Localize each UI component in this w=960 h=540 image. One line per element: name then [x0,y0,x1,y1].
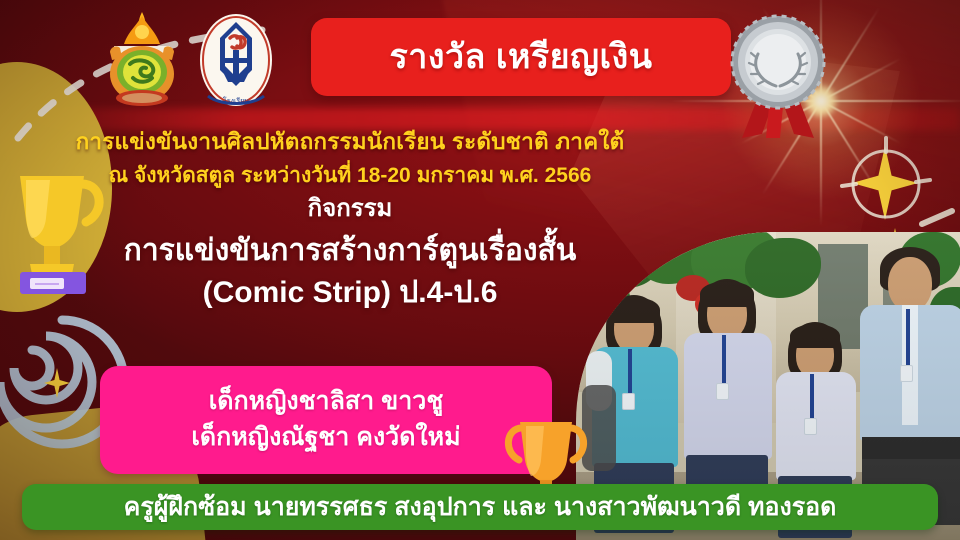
school-emblem-icon: โรงเรียน [194,8,278,112]
obec-emblem-icon [100,8,184,112]
activity-name: การแข่งขันการสร้างการ์ตูนเรื่องสั้น [0,231,700,272]
teachers-bar: ครูผู้ฝึกซ้อม นายทรรศธร สงอุปการ และ นาง… [22,484,938,530]
teachers-text: ครูผู้ฝึกซ้อม นายทรรศธร สงอุปการ และ นาง… [124,495,837,520]
award-banner-text: รางวัล เหรียญเงิน [390,40,653,74]
competition-title-line: การแข่งขันงานศิลปหัตถกรรมนักเรียน ระดับช… [0,128,700,156]
logo-group: โรงเรียน [100,8,278,112]
competition-date-line: ณ จังหวัดสตูล ระหว่างวันที่ 18-20 มกราคม… [0,163,700,189]
activity-level: (Comic Strip) ป.4-ป.6 [0,273,700,314]
heading-block: การแข่งขันงานศิลปหัตถกรรมนักเรียน ระดับช… [0,128,700,314]
award-poster: โรงเรียน รางวัล เหรียญเงิน การแข่ [0,0,960,540]
student-name: เด็กหญิงชาลิสา ขาวชู [209,385,444,419]
silver-medal-icon [718,8,838,140]
award-banner: รางวัล เหรียญเงิน [311,18,731,96]
students-box: เด็กหญิงชาลิสา ขาวชู เด็กหญิงณัฐชา คงวัด… [100,366,552,474]
activity-label: กิจกรรม [0,193,700,224]
svg-text:โรงเรียน: โรงเรียน [223,96,249,105]
student-name: เด็กหญิงณัฐชา คงวัดใหม่ [191,421,460,455]
